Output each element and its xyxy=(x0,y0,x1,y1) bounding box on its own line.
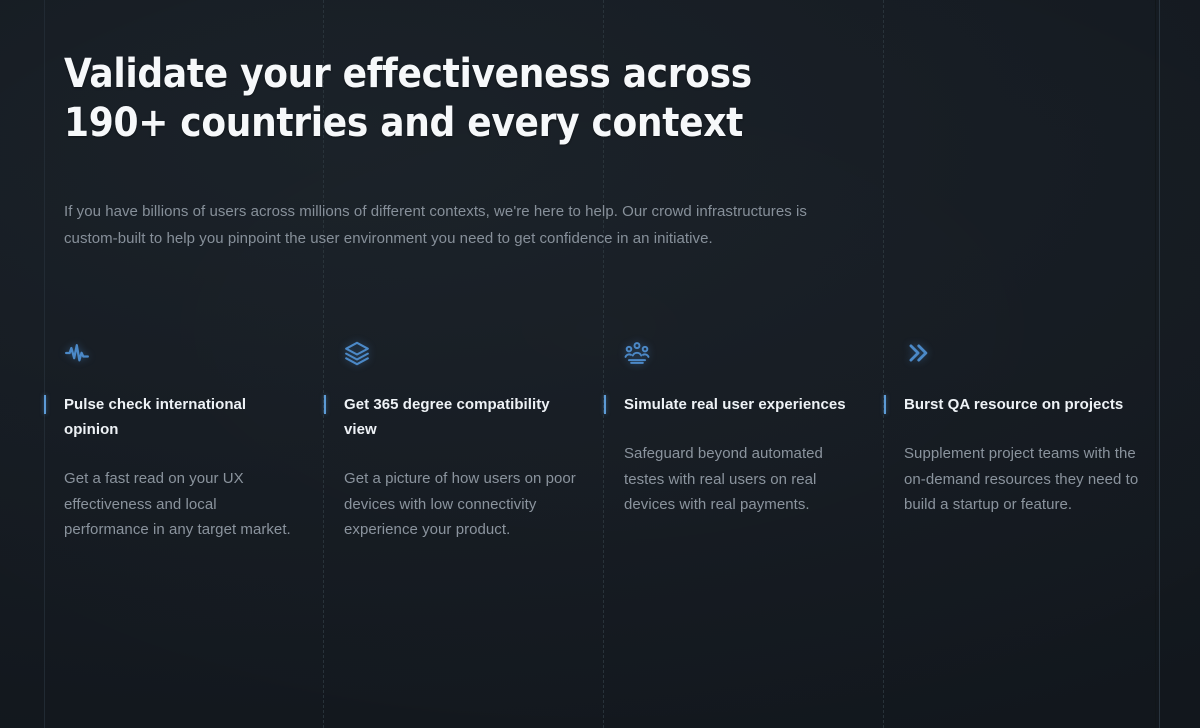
feature-card-pulse-check: Pulse check international opinion Get a … xyxy=(44,340,324,543)
feature-title: Burst QA resource on projects xyxy=(904,392,1142,417)
pulse-icon xyxy=(64,340,90,366)
feature-columns: Pulse check international opinion Get a … xyxy=(0,340,1200,543)
feature-title: Simulate real user experiences xyxy=(624,392,862,417)
feature-body: Get a fast read on your UX effectiveness… xyxy=(64,466,302,543)
feature-body: Safeguard beyond automated testes with r… xyxy=(624,441,862,518)
feature-body: Supplement project teams with the on-dem… xyxy=(904,441,1142,518)
page-title: Validate your effectiveness across 190+ … xyxy=(64,50,844,148)
double-chevron-right-icon xyxy=(904,340,930,366)
feature-title-text: Burst QA resource on projects xyxy=(904,396,1123,413)
feature-title-text: Simulate real user experiences xyxy=(624,396,846,413)
hero-paragraph: If you have billions of users across mil… xyxy=(64,199,864,252)
feature-title: Pulse check international opinion xyxy=(64,392,302,442)
title-accent-bar xyxy=(44,395,46,414)
feature-card-burst-qa: Burst QA resource on projects Supplement… xyxy=(884,340,1164,543)
title-accent-bar xyxy=(324,395,326,414)
feature-card-simulate-users: Simulate real user experiences Safeguard… xyxy=(604,340,884,543)
title-accent-bar xyxy=(604,395,606,414)
page-root: Validate your effectiveness across 190+ … xyxy=(0,0,1200,728)
users-group-icon xyxy=(624,340,650,366)
feature-title: Get 365 degree compatibility view xyxy=(344,392,582,442)
title-accent-bar xyxy=(884,395,886,414)
layers-icon xyxy=(344,340,370,366)
content-wrapper: Validate your effectiveness across 190+ … xyxy=(0,0,1200,728)
feature-card-compatibility-view: Get 365 degree compatibility view Get a … xyxy=(324,340,604,543)
feature-title-text: Pulse check international opinion xyxy=(64,396,246,438)
feature-title-text: Get 365 degree compatibility view xyxy=(344,396,550,438)
feature-body: Get a picture of how users on poor devic… xyxy=(344,466,582,543)
